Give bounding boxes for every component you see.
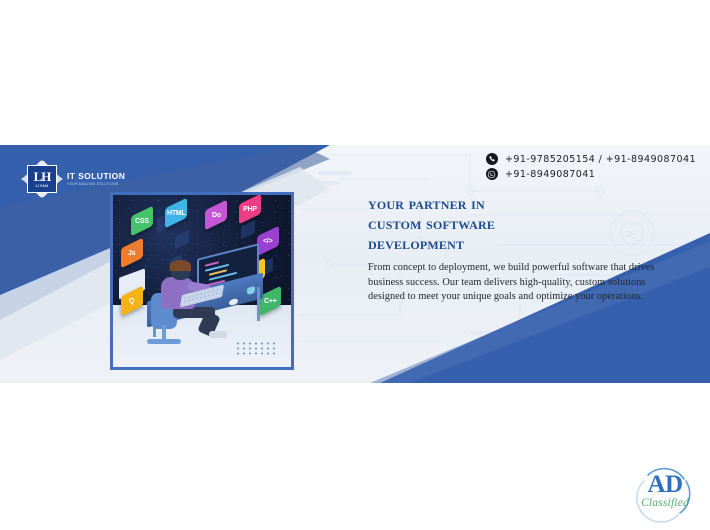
contact-block: +91-9785205154 / +91-8949087041 +91-8949… xyxy=(486,153,696,180)
person-shoe xyxy=(209,331,227,338)
logo-mark: LH LIYAN xyxy=(22,159,62,199)
ad-classified-watermark: AD Classified xyxy=(634,463,696,523)
phone-icon xyxy=(486,153,498,165)
company-tagline: YOUR AMAZING SOLUTIONS xyxy=(67,182,125,187)
logo-subbrand-text: LIYAN xyxy=(36,184,49,188)
contact-row-whatsapp[interactable]: +91-8949087041 xyxy=(486,168,595,180)
logo-monogram-text: LH xyxy=(34,171,51,183)
watermark-subtitle: Classified xyxy=(634,497,696,509)
logo-monogram-box: LH LIYAN xyxy=(27,165,57,193)
chair-base xyxy=(147,339,181,344)
logo-right-arrow-icon xyxy=(57,175,63,183)
developer-at-desk-illustration: CSS HTML Do PHP </> Js ! C++ Q xyxy=(110,192,294,370)
phone-number: +91-9785205154 / +91-8949087041 xyxy=(505,154,696,165)
headline-line-1: Your Partner in xyxy=(368,194,684,214)
company-name: IT SOLUTION xyxy=(67,172,125,181)
whatsapp-icon xyxy=(486,168,498,180)
whatsapp-number: +91-8949087041 xyxy=(505,169,595,180)
watermark-initials: AD xyxy=(634,472,696,498)
banner-description: From concept to deployment, we build pow… xyxy=(368,261,684,305)
contact-row-phone[interactable]: +91-9785205154 / +91-8949087041 xyxy=(486,153,696,165)
person-hair xyxy=(170,260,191,271)
company-logo[interactable]: LH LIYAN IT SOLUTION YOUR AMAZING SOLUTI… xyxy=(22,159,125,199)
headline-line-3: Development xyxy=(368,234,684,254)
promotional-banner: >_ LH LIYAN IT SOLUTION YOUR AMAZING SOL… xyxy=(0,145,710,383)
logo-wordmark: IT SOLUTION YOUR AMAZING SOLUTIONS xyxy=(67,172,125,187)
headline-line-2: Custom Software xyxy=(368,214,684,234)
dot-grid-decoration xyxy=(235,341,275,357)
banner-headline: Your Partner in Custom Software Developm… xyxy=(368,194,684,254)
banner-copy: Your Partner in Custom Software Developm… xyxy=(368,194,684,305)
desk-leg xyxy=(257,287,260,321)
